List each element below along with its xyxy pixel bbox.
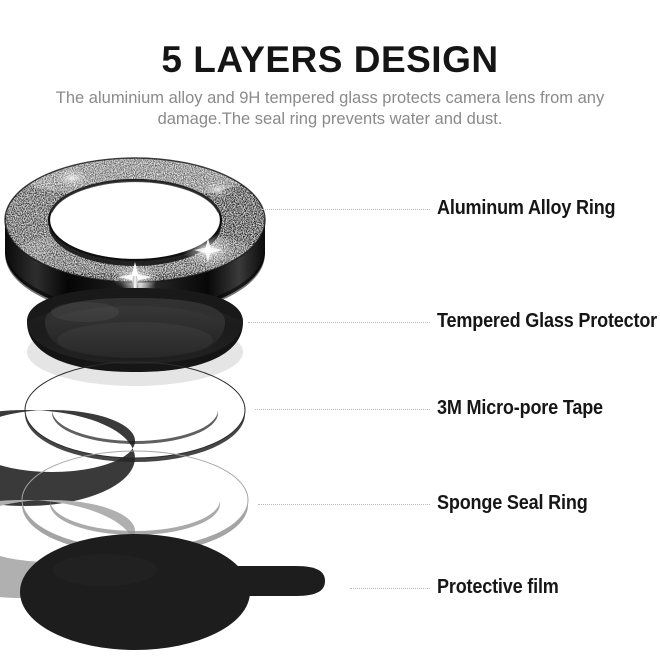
product-infographic: 5 LAYERS DESIGN The aluminium alloy and … (0, 0, 660, 660)
label-sponge-seal-ring: Sponge Seal Ring (437, 491, 588, 515)
label-aluminum-alloy-ring: Aluminum Alloy Ring (437, 196, 615, 220)
leader-line-micro-pore-tape (255, 409, 430, 410)
layer-micro-pore-tape (0, 362, 245, 506)
label-protective-film: Protective film (437, 575, 559, 599)
page-title: 5 LAYERS DESIGN (0, 41, 660, 78)
leader-line-protective-film (350, 588, 430, 589)
label-tempered-glass-protector: Tempered Glass Protector (437, 309, 657, 333)
leader-line-sponge-seal-ring (258, 504, 430, 505)
subtitle-line-1: The aluminium alloy and 9H tempered glas… (56, 89, 573, 107)
page-subtitle: The aluminium alloy and 9H tempered glas… (12, 88, 648, 130)
layer-tempered-glass-protector (27, 288, 243, 386)
label-micro-pore-tape: 3M Micro-pore Tape (437, 396, 603, 420)
layer-aluminum-alloy-ring (0, 146, 280, 316)
layer-protective-film (20, 534, 325, 650)
layer-sponge-seal-ring (0, 451, 248, 598)
leader-line-aluminum-alloy-ring (262, 209, 430, 210)
ring-sparkles (54, 168, 234, 293)
leader-line-tempered-glass-protector (248, 322, 430, 323)
